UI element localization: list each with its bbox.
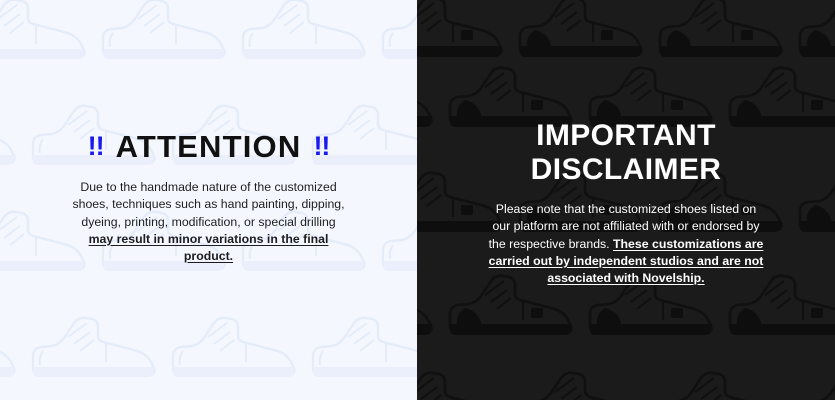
disclaimer-body-line-3-text: the respective brands. — [489, 237, 610, 251]
attention-title-text: ATTENTION — [116, 129, 302, 164]
disclaimer-title: IMPORTANT DISCLAIMER — [443, 119, 809, 186]
disclaimer-body-line-1: Please note that the customized shoes li… — [443, 201, 809, 218]
attention-content: !!ATTENTION!! Due to the handmade nature… — [0, 131, 417, 265]
disclaimer-content: IMPORTANT DISCLAIMER Please note that th… — [417, 119, 835, 287]
disclaimer-emphasis-line-1: These customizations are — [613, 237, 763, 251]
disclaimer-body: Please note that the customized shoes li… — [443, 201, 809, 287]
attention-emphasis-line-1: may result in minor variations in the fi… — [26, 231, 391, 248]
attention-title: !!ATTENTION!! — [26, 131, 391, 163]
exclamation-left-icon: !! — [88, 132, 104, 160]
disclaimer-body-line-3: the respective brands. These customizati… — [443, 236, 809, 253]
disclaimer-body-line-2: our platform are not affiliated with or … — [443, 218, 809, 235]
attention-emphasis-line-2: product. — [26, 248, 391, 265]
attention-body: Due to the handmade nature of the custom… — [26, 179, 391, 265]
promo-banner: !!ATTENTION!! Due to the handmade nature… — [0, 0, 835, 400]
attention-body-line-1: Due to the handmade nature of the custom… — [26, 179, 391, 196]
disclaimer-panel: IMPORTANT DISCLAIMER Please note that th… — [417, 0, 835, 400]
disclaimer-emphasis-line-2: carried out by independent studios and a… — [443, 253, 809, 270]
disclaimer-title-line-1: IMPORTANT — [443, 119, 809, 153]
exclamation-right-icon: !! — [313, 132, 329, 160]
attention-panel: !!ATTENTION!! Due to the handmade nature… — [0, 0, 417, 400]
attention-body-line-2: shoes, techniques such as hand painting,… — [26, 196, 391, 213]
disclaimer-title-line-2: DISCLAIMER — [443, 153, 809, 187]
attention-body-line-3: dyeing, printing, modification, or speci… — [26, 214, 391, 231]
disclaimer-emphasis-line-3: associated with Novelship. — [443, 270, 809, 287]
